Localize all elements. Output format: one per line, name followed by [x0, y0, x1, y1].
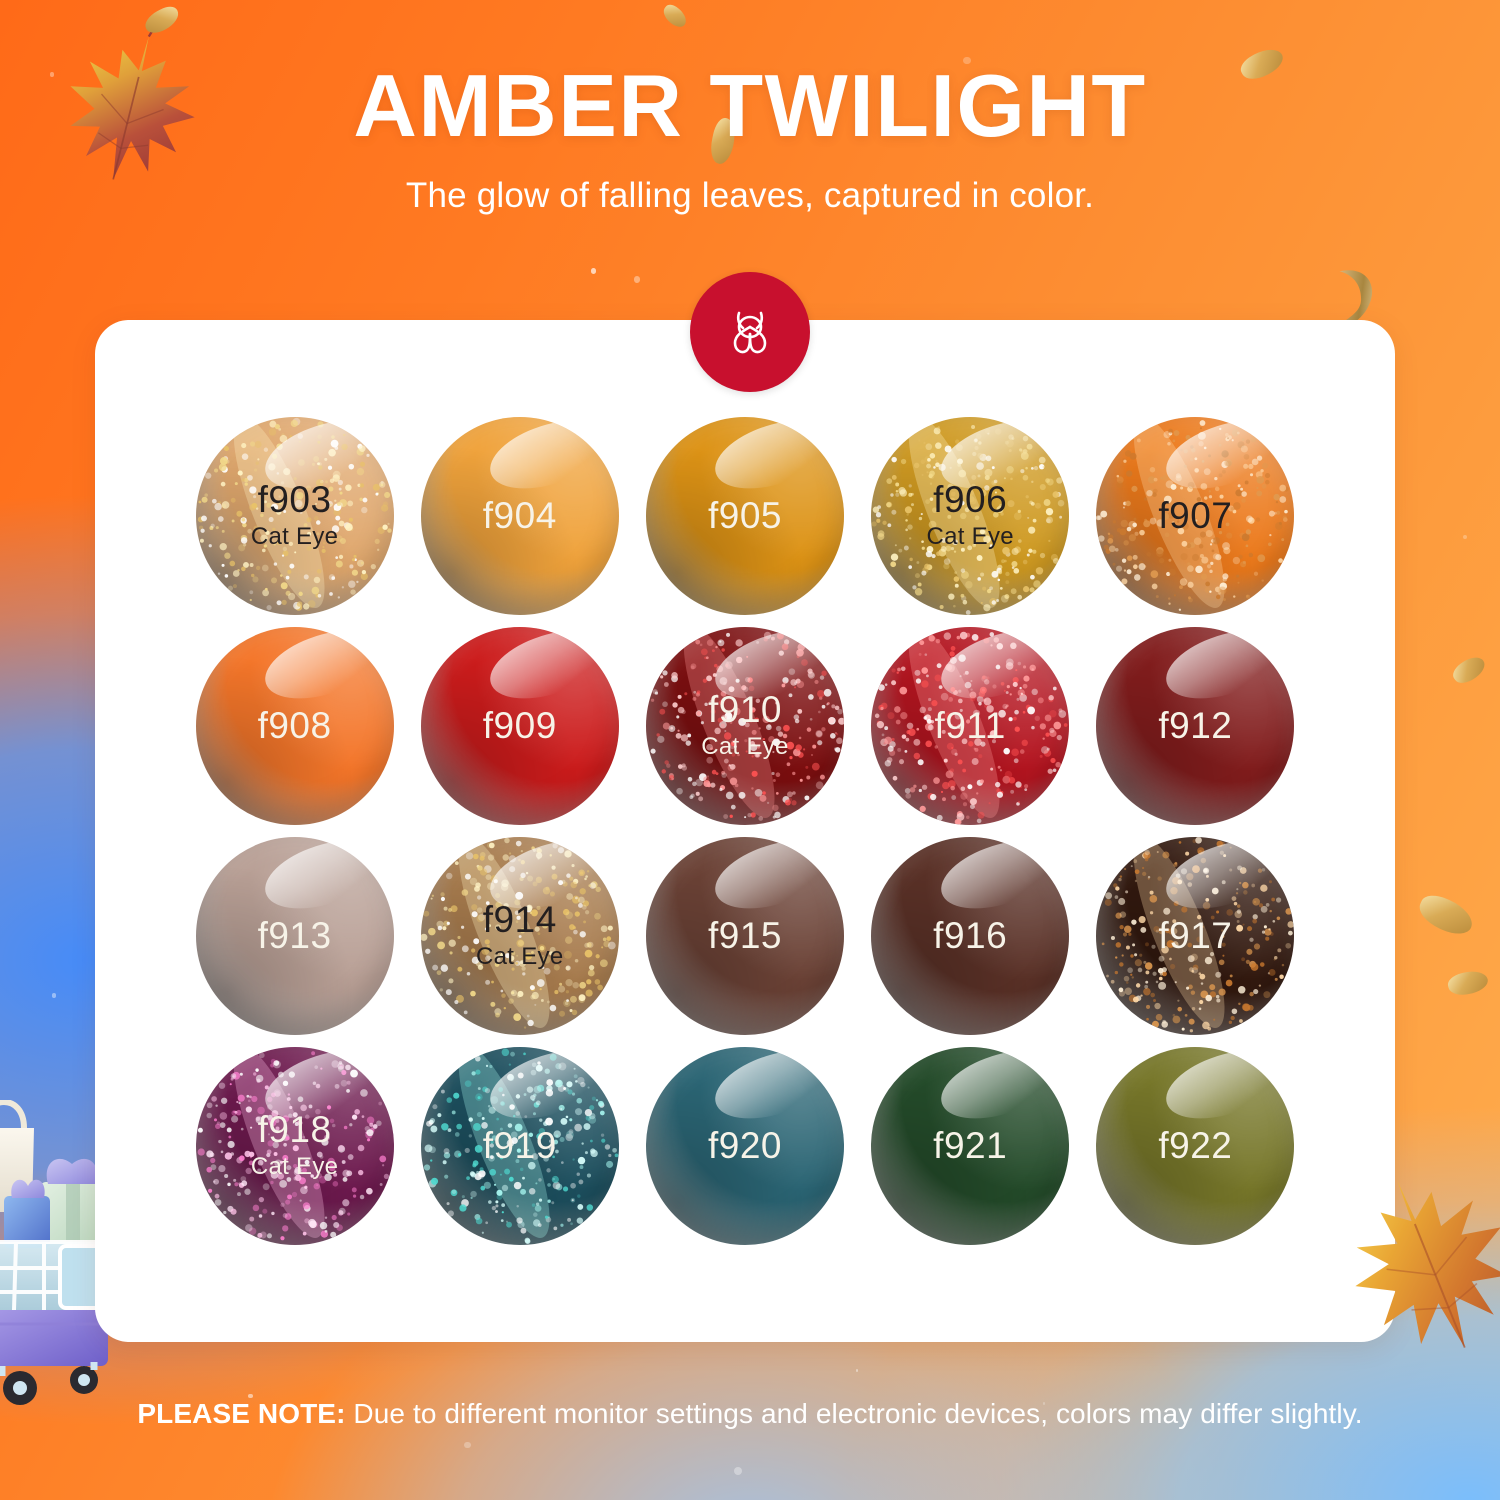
- swatch-code: f912: [1158, 707, 1232, 746]
- swatch-code: f903: [258, 481, 332, 520]
- swatch-card: f903Cat Eyef904f905f906Cat Eyef907f908f9…: [95, 320, 1395, 1342]
- swatch-cell: f918Cat Eye: [191, 1046, 398, 1246]
- confetti-fleck: [1446, 967, 1490, 998]
- background-speck: [1463, 535, 1467, 539]
- swatch-code: f916: [933, 917, 1007, 956]
- brand-butterfly-icon: [719, 301, 781, 363]
- swatch-code: f911: [935, 707, 1006, 746]
- color-swatch-f908[interactable]: f908: [196, 627, 394, 825]
- confetti-fleck: [141, 3, 182, 38]
- swatch-cell: f904: [416, 416, 623, 616]
- poster-header: AMBER TWILIGHT The glow of falling leave…: [0, 62, 1500, 216]
- color-swatch-f903[interactable]: f903Cat Eye: [196, 417, 394, 615]
- swatch-cell: f903Cat Eye: [191, 416, 398, 616]
- swatch-cell: f919: [416, 1046, 623, 1246]
- color-swatch-f916[interactable]: f916: [871, 837, 1069, 1035]
- background-speck: [591, 268, 597, 274]
- swatch-finish-label: Cat Eye: [701, 733, 788, 761]
- disclaimer-note: PLEASE NOTE: Due to different monitor se…: [0, 1398, 1500, 1430]
- swatch-cell: f909: [416, 626, 623, 826]
- color-swatch-f920[interactable]: f920: [646, 1047, 844, 1245]
- swatch-cell: f920: [641, 1046, 848, 1246]
- swatch-code: f920: [708, 1127, 782, 1166]
- color-swatch-f917[interactable]: f917: [1096, 837, 1294, 1035]
- brand-logo-badge: [690, 272, 810, 392]
- swatch-cell: f916: [867, 836, 1074, 1036]
- background-speck: [634, 276, 640, 282]
- background-speck: [734, 1467, 742, 1475]
- color-swatch-f918[interactable]: f918Cat Eye: [196, 1047, 394, 1245]
- swatch-code: f918: [258, 1111, 332, 1150]
- color-swatch-f914[interactable]: f914Cat Eye: [421, 837, 619, 1035]
- color-swatch-f913[interactable]: f913: [196, 837, 394, 1035]
- color-swatch-f905[interactable]: f905: [646, 417, 844, 615]
- color-swatch-f919[interactable]: f919: [421, 1047, 619, 1245]
- swatch-cell: f907: [1092, 416, 1299, 616]
- swatch-code: f915: [708, 917, 782, 956]
- color-swatch-f911[interactable]: f911: [871, 627, 1069, 825]
- swatch-code: f909: [483, 707, 557, 746]
- swatch-finish-label: Cat Eye: [926, 523, 1013, 551]
- swatch-code: f910: [708, 691, 782, 730]
- color-swatch-f910[interactable]: f910Cat Eye: [646, 627, 844, 825]
- swatch-cell: f911: [867, 626, 1074, 826]
- swatch-code: f914: [483, 901, 557, 940]
- background-speck: [464, 1442, 471, 1449]
- swatch-grid: f903Cat Eyef904f905f906Cat Eyef907f908f9…: [191, 416, 1299, 1246]
- color-swatch-f904[interactable]: f904: [421, 417, 619, 615]
- swatch-finish-label: Cat Eye: [476, 943, 563, 971]
- disclaimer-label: PLEASE NOTE:: [137, 1398, 345, 1429]
- swatch-cell: f914Cat Eye: [416, 836, 623, 1036]
- swatch-finish-label: Cat Eye: [251, 1153, 338, 1181]
- confetti-fleck: [1414, 890, 1477, 940]
- page-title: AMBER TWILIGHT: [0, 62, 1500, 150]
- color-swatch-f915[interactable]: f915: [646, 837, 844, 1035]
- swatch-cell: f913: [191, 836, 398, 1036]
- palette-poster: AMBER TWILIGHT The glow of falling leave…: [0, 0, 1500, 1500]
- background-speck: [856, 1369, 859, 1372]
- color-swatch-f922[interactable]: f922: [1096, 1047, 1294, 1245]
- swatch-code: f908: [258, 707, 332, 746]
- swatch-cell: f912: [1092, 626, 1299, 826]
- swatch-code: f906: [933, 481, 1007, 520]
- swatch-cell: f908: [191, 626, 398, 826]
- swatch-cell: f910Cat Eye: [641, 626, 848, 826]
- swatch-code: f913: [258, 917, 332, 956]
- swatch-code: f922: [1158, 1127, 1232, 1166]
- swatch-code: f917: [1158, 917, 1232, 956]
- swatch-code: f905: [708, 497, 782, 536]
- swatch-code: f907: [1158, 497, 1232, 536]
- confetti-fleck: [660, 2, 690, 31]
- disclaimer-text: Due to different monitor settings and el…: [353, 1398, 1362, 1429]
- swatch-cell: f906Cat Eye: [867, 416, 1074, 616]
- swatch-cell: f917: [1092, 836, 1299, 1036]
- swatch-cell: f921: [867, 1046, 1074, 1246]
- swatch-code: f921: [933, 1127, 1007, 1166]
- page-subtitle: The glow of falling leaves, captured in …: [0, 176, 1500, 216]
- color-swatch-f907[interactable]: f907: [1096, 417, 1294, 615]
- swatch-code: f919: [483, 1127, 557, 1166]
- color-swatch-f912[interactable]: f912: [1096, 627, 1294, 825]
- color-swatch-f921[interactable]: f921: [871, 1047, 1069, 1245]
- swatch-cell: f922: [1092, 1046, 1299, 1246]
- confetti-fleck: [1449, 652, 1488, 688]
- swatch-cell: f905: [641, 416, 848, 616]
- swatch-cell: f915: [641, 836, 848, 1036]
- color-swatch-f906[interactable]: f906Cat Eye: [871, 417, 1069, 615]
- swatch-code: f904: [483, 497, 557, 536]
- swatch-finish-label: Cat Eye: [251, 523, 338, 551]
- background-speck: [52, 993, 57, 998]
- color-swatch-f909[interactable]: f909: [421, 627, 619, 825]
